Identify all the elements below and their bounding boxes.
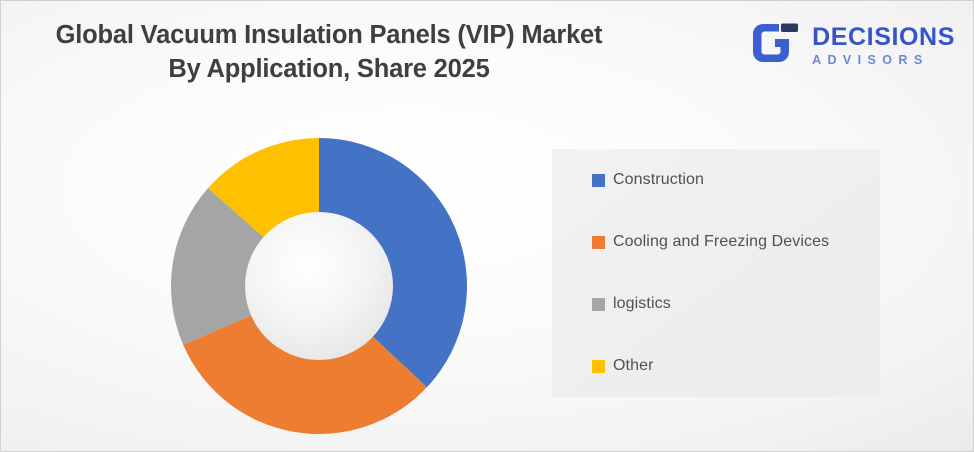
legend-item-label: logistics bbox=[613, 295, 671, 313]
page-title: Global Vacuum Insulation Panels (VIP) Ma… bbox=[9, 19, 649, 86]
donut-chart bbox=[1, 111, 546, 452]
logo-company-name: DECISIONS bbox=[812, 25, 955, 50]
legend-item[interactable]: Other bbox=[592, 355, 882, 377]
legend-item[interactable]: Cooling and Freezing Devices bbox=[592, 231, 882, 253]
brand-logo: DECISIONS ADVISORS bbox=[753, 21, 955, 70]
page-title-line-2: By Application, Share 2025 bbox=[9, 53, 649, 87]
legend-color-swatch bbox=[592, 298, 605, 311]
chart-legend: ConstructionCooling and Freezing Devices… bbox=[552, 149, 880, 397]
legend-item-list: ConstructionCooling and Freezing Devices… bbox=[592, 149, 882, 397]
logo-wordmark: DECISIONS ADVISORS bbox=[812, 25, 955, 67]
legend-color-swatch bbox=[592, 360, 605, 373]
donut-center-hole bbox=[245, 212, 393, 360]
page-title-line-1: Global Vacuum Insulation Panels (VIP) Ma… bbox=[9, 19, 649, 53]
legend-color-swatch bbox=[592, 174, 605, 187]
slide-canvas: Global Vacuum Insulation Panels (VIP) Ma… bbox=[0, 0, 974, 452]
legend-item-label: Cooling and Freezing Devices bbox=[613, 233, 829, 251]
legend-item[interactable]: logistics bbox=[592, 293, 882, 315]
legend-item[interactable]: Construction bbox=[592, 169, 882, 191]
donut-chart-plot bbox=[170, 137, 468, 435]
decisions-g-mark-icon bbox=[753, 21, 803, 70]
logo-company-subtitle: ADVISORS bbox=[812, 54, 955, 67]
legend-color-swatch bbox=[592, 236, 605, 249]
legend-item-label: Construction bbox=[613, 171, 704, 189]
legend-item-label: Other bbox=[613, 357, 654, 375]
